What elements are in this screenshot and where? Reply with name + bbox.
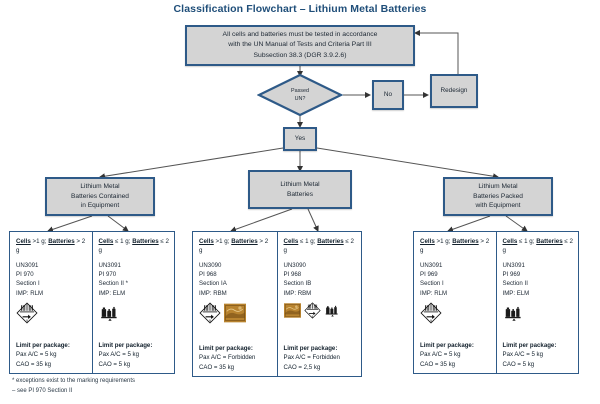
test-requirement-line-3: Subsection 38.3 (DGR 3.9.2.6) [223, 51, 378, 61]
limit-pax: Pax A/C = 5 kg [99, 350, 170, 359]
batteries-label: Batteries [536, 238, 562, 245]
branch-left-line-1: Lithium Metal [71, 182, 129, 192]
section: Section IB [284, 279, 357, 288]
cell-specification: UN3090PI 968Section IAIMP: RBM [199, 261, 272, 299]
cell-label-icons: 9 [199, 302, 272, 324]
detail-cell: Cells ≤ 1 g; Batteries ≤ 2 gUN3090PI 968… [277, 232, 362, 376]
detail-cell: Cells >1 g; Batteries > 2 gUN3091PI 970S… [10, 232, 92, 373]
footnote-line-1: * exceptions exist to the marking requir… [12, 377, 135, 387]
un-number: UN3091 [16, 261, 87, 270]
footnote: * exceptions exist to the marking requir… [12, 377, 135, 396]
footnote-line-2: – see PI 970 Section II [12, 387, 135, 397]
lithium-battery-mark-icon [503, 302, 525, 324]
svg-text:9: 9 [209, 319, 211, 323]
svg-text:9: 9 [26, 319, 28, 323]
cell-criteria-header: Cells >1 g; Batteries > 2 g [420, 237, 491, 256]
un-number: UN3090 [284, 261, 357, 270]
un-number: UN3091 [420, 261, 491, 270]
decision-label-line-1: Passed [291, 87, 309, 95]
imp-code: IMP: RLM [16, 289, 87, 298]
cells-threshold: ≤ 1 g; [519, 238, 534, 245]
panel-contained-in-equipment: Cells >1 g; Batteries > 2 gUN3091PI 970S… [9, 231, 175, 374]
cell-criteria-header: Cells >1 g; Batteries > 2 g [199, 237, 272, 256]
branch-left-line-2: Batteries Contained [71, 192, 129, 202]
packing-instruction: PI 968 [199, 270, 272, 279]
branch-right-line-2: Batteries Packed [473, 192, 523, 202]
cells-label: Cells [16, 238, 31, 245]
branch-mid-line-1: Lithium Metal [280, 180, 319, 190]
cell-limits: Limit per package:Pax A/C = ForbiddenCAO… [199, 344, 272, 372]
limit-cao: CAO = 5 kg [99, 360, 170, 369]
section: Section II * [99, 279, 170, 288]
limit-title: Limit per package: [420, 341, 491, 350]
imp-code: IMP: RBM [199, 289, 272, 298]
cell-specification: UN3091PI 970Section IIMP: RLM [16, 261, 87, 299]
limit-pax: Pax A/C = Forbidden [199, 353, 272, 362]
section: Section II [503, 279, 574, 288]
detail-cell: Cells >1 g; Batteries > 2 gUN3090PI 968S… [193, 232, 277, 376]
batteries-label: Batteries [452, 238, 478, 245]
limit-pax: Pax A/C = Forbidden [284, 353, 357, 362]
limit-cao: CAO = 5 kg [503, 360, 574, 369]
cell-label-icons: 9 [284, 302, 357, 319]
limit-pax: Pax A/C = 5 kg [420, 350, 491, 359]
cell-criteria-header: Cells ≤ 1 g; Batteries ≤ 2 g [99, 237, 170, 256]
un-number: UN3090 [199, 261, 272, 270]
panel-packed-with-equipment: Cells >1 g; Batteries > 2 gUN3091PI 969S… [413, 231, 579, 374]
batteries-label: Batteries [48, 238, 74, 245]
cells-threshold: ≤ 1 g; [115, 238, 130, 245]
cell-limits: Limit per package:Pax A/C = 5 kgCAO = 35… [420, 341, 491, 369]
branch-right-line-3: with Equipment [473, 201, 523, 211]
cell-limits: Limit per package:Pax A/C = ForbiddenCAO… [284, 344, 357, 372]
page-title: Classification Flowchart – Lithium Metal… [0, 3, 600, 15]
detail-cell: Cells ≤ 1 g; Batteries ≤ 2 gUN3091PI 970… [92, 232, 175, 373]
cells-threshold: >1 g; [33, 238, 47, 245]
node-yes-label: Yes [295, 134, 305, 143]
batteries-label: Batteries [231, 238, 257, 245]
cell-criteria-header: Cells >1 g; Batteries > 2 g [16, 237, 87, 256]
packing-instruction: PI 969 [503, 270, 574, 279]
limit-title: Limit per package: [503, 341, 574, 350]
cells-label: Cells [420, 238, 435, 245]
cell-limits: Limit per package:Pax A/C = 5 kgCAO = 5 … [503, 341, 574, 369]
class9-lithium-label-icon: 9 [16, 302, 38, 324]
packing-instruction: PI 970 [16, 270, 87, 279]
imp-code: IMP: ELM [503, 289, 574, 298]
packing-instruction: PI 970 [99, 270, 170, 279]
section: Section IA [199, 279, 272, 288]
cell-specification: UN3090PI 968Section IBIMP: RBM [284, 261, 357, 299]
imp-code: IMP: RLM [420, 289, 491, 298]
section: Section I [420, 279, 491, 288]
un-number: UN3091 [99, 261, 170, 270]
cells-threshold: >1 g; [216, 238, 230, 245]
branch-left-line-3: in Equipment [71, 201, 129, 211]
branch-right-line-1: Lithium Metal [473, 182, 523, 192]
cells-threshold: >1 g; [437, 238, 451, 245]
node-packed-with-equipment: Lithium Metal Batteries Packed with Equi… [443, 177, 553, 216]
cells-label: Cells [284, 238, 299, 245]
limit-title: Limit per package: [16, 341, 87, 350]
cell-specification: UN3091PI 969Section IIIMP: ELM [503, 261, 574, 299]
lithium-battery-mark-icon [324, 302, 341, 319]
node-decision-passed-un: Passed UN? [257, 73, 343, 117]
limit-title: Limit per package: [99, 341, 170, 350]
class9-lithium-label-icon: 9 [199, 302, 221, 324]
cell-label-icons [99, 302, 170, 324]
imp-code: IMP: RBM [284, 289, 357, 298]
cells-label: Cells [99, 238, 114, 245]
packing-instruction: PI 968 [284, 270, 357, 279]
node-yes: Yes [283, 127, 317, 151]
cell-specification: UN3091PI 969Section IIMP: RLM [420, 261, 491, 299]
limit-cao: CAO = 2,5 kg [284, 363, 357, 372]
cells-label: Cells [199, 238, 214, 245]
flowchart-canvas: Classification Flowchart – Lithium Metal… [0, 0, 600, 404]
class9-lithium-label-icon: 9 [304, 302, 321, 319]
node-redesign: Redesign [430, 74, 478, 108]
decision-label-line-2: UN? [295, 95, 306, 103]
svg-text:9: 9 [430, 319, 432, 323]
node-redesign-label: Redesign [440, 86, 467, 95]
class9-lithium-label-icon: 9 [420, 302, 442, 324]
cell-specification: UN3091PI 970Section II *IMP: ELM [99, 261, 170, 299]
limit-pax: Pax A/C = 5 kg [503, 350, 574, 359]
cell-label-icons: 9 [420, 302, 491, 324]
lithium-battery-mark-icon [99, 302, 121, 324]
cell-label-icons: 9 [16, 302, 87, 324]
cell-limits: Limit per package:Pax A/C = 5 kgCAO = 5 … [99, 341, 170, 369]
section: Section I [16, 279, 87, 288]
cargo-aircraft-only-label-icon [284, 302, 301, 319]
panel-batteries-alone: Cells >1 g; Batteries > 2 gUN3090PI 968S… [192, 231, 362, 377]
cell-label-icons [503, 302, 574, 324]
cells-threshold: ≤ 1 g; [300, 238, 315, 245]
limit-title: Limit per package: [199, 344, 272, 353]
node-no-label: No [384, 90, 392, 99]
limit-cao: CAO = 35 kg [16, 360, 87, 369]
test-requirement-line-2: with the UN Manual of Tests and Criteria… [223, 40, 378, 50]
un-number: UN3091 [503, 261, 574, 270]
node-no: No [372, 80, 404, 110]
batteries-label: Batteries [132, 238, 158, 245]
cargo-aircraft-only-label-icon [224, 302, 246, 324]
branch-mid-line-2: Batteries [280, 190, 319, 200]
cell-criteria-header: Cells ≤ 1 g; Batteries ≤ 2 g [284, 237, 357, 256]
node-test-requirement: All cells and batteries must be tested i… [185, 25, 415, 66]
packing-instruction: PI 969 [420, 270, 491, 279]
test-requirement-line-1: All cells and batteries must be tested i… [223, 30, 378, 40]
detail-cell: Cells ≤ 1 g; Batteries ≤ 2 gUN3091PI 969… [496, 232, 579, 373]
batteries-label: Batteries [317, 238, 343, 245]
limit-title: Limit per package: [284, 344, 357, 353]
cell-criteria-header: Cells ≤ 1 g; Batteries ≤ 2 g [503, 237, 574, 256]
limit-cao: CAO = 35 kg [199, 363, 272, 372]
cells-label: Cells [503, 238, 518, 245]
limit-pax: Pax A/C = 5 kg [16, 350, 87, 359]
detail-cell: Cells >1 g; Batteries > 2 gUN3091PI 969S… [414, 232, 496, 373]
node-contained-in-equipment: Lithium Metal Batteries Contained in Equ… [45, 177, 155, 216]
cell-limits: Limit per package:Pax A/C = 5 kgCAO = 35… [16, 341, 87, 369]
limit-cao: CAO = 35 kg [420, 360, 491, 369]
node-lithium-metal-batteries: Lithium Metal Batteries [248, 170, 352, 209]
imp-code: IMP: ELM [99, 289, 170, 298]
